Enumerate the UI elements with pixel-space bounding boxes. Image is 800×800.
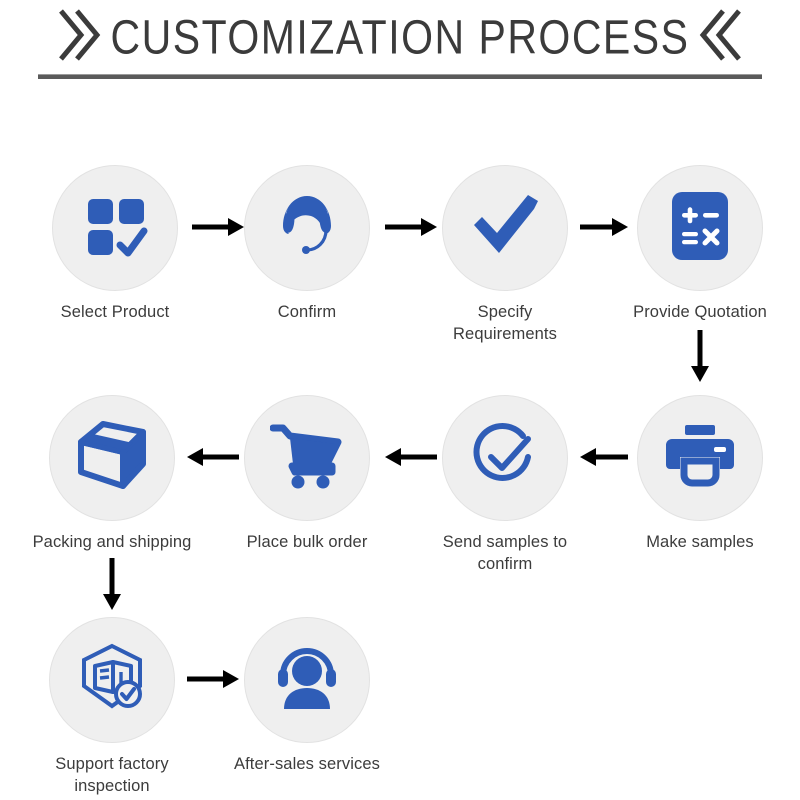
shopping-cart-icon (270, 422, 344, 495)
flow-step-send-samples-to-confirm[interactable]: Send samples to confirm (425, 395, 585, 576)
arrow-step7-to-step8 (185, 445, 241, 474)
step-label: Confirm (227, 302, 387, 324)
step-icon-circle (244, 395, 370, 521)
headphones-person-icon (271, 643, 343, 718)
page-title: CUSTOMIZATION PROCESS (111, 9, 690, 64)
step-icon-circle (52, 165, 178, 291)
arrow-step6-to-step7 (383, 445, 439, 474)
step-icon-circle (49, 617, 175, 743)
title-divider (38, 74, 762, 79)
step-icon-circle (244, 165, 370, 291)
grid-squares-check-icon (82, 193, 148, 264)
step-icon-circle (442, 165, 568, 291)
step-icon-circle (244, 617, 370, 743)
flow-step-confirm[interactable]: Confirm (227, 165, 387, 324)
page-header: CUSTOMIZATION PROCESS (0, 0, 800, 90)
printer-icon (664, 423, 736, 494)
title-row: CUSTOMIZATION PROCESS (0, 8, 800, 66)
flow-step-packing-and-shipping[interactable]: Packing and shipping (32, 395, 192, 554)
package-box-icon (75, 420, 149, 497)
step-label: After-sales services (227, 754, 387, 776)
arrow-step4-to-step5 (688, 328, 712, 389)
flow-step-make-samples[interactable]: Make samples (620, 395, 780, 554)
step-label: Support factory inspection (32, 754, 192, 798)
circle-check-icon (468, 419, 542, 498)
arrow-step8-to-step9 (100, 556, 124, 617)
step-icon-circle (442, 395, 568, 521)
double-chevron-left-icon (699, 7, 745, 68)
step-icon-circle (637, 395, 763, 521)
flow-step-select-product[interactable]: Select Product (35, 165, 195, 324)
support-agent-headset-icon (271, 190, 343, 267)
checkmark-icon (468, 191, 542, 266)
step-label: Packing and shipping (32, 532, 192, 554)
flow-step-after-sales-services[interactable]: After-sales services (227, 617, 387, 776)
step-label: Select Product (35, 302, 195, 324)
step-label: Specify Requirements (425, 302, 585, 346)
calculator-icon (669, 189, 731, 268)
step-label: Send samples to confirm (425, 532, 585, 576)
flow-step-support-factory-inspection[interactable]: Support factory inspection (32, 617, 192, 798)
flow-step-place-bulk-order[interactable]: Place bulk order (227, 395, 387, 554)
flow-step-specify-requirements[interactable]: Specify Requirements (425, 165, 585, 346)
step-icon-circle (637, 165, 763, 291)
shield-inspection-check-icon (75, 642, 149, 719)
step-icon-circle (49, 395, 175, 521)
double-chevron-right-icon (55, 7, 101, 68)
step-label: Make samples (620, 532, 780, 554)
step-label: Place bulk order (227, 532, 387, 554)
arrow-step5-to-step6 (578, 445, 630, 474)
flow-step-provide-quotation[interactable]: Provide Quotation (620, 165, 780, 324)
step-label: Provide Quotation (620, 302, 780, 324)
